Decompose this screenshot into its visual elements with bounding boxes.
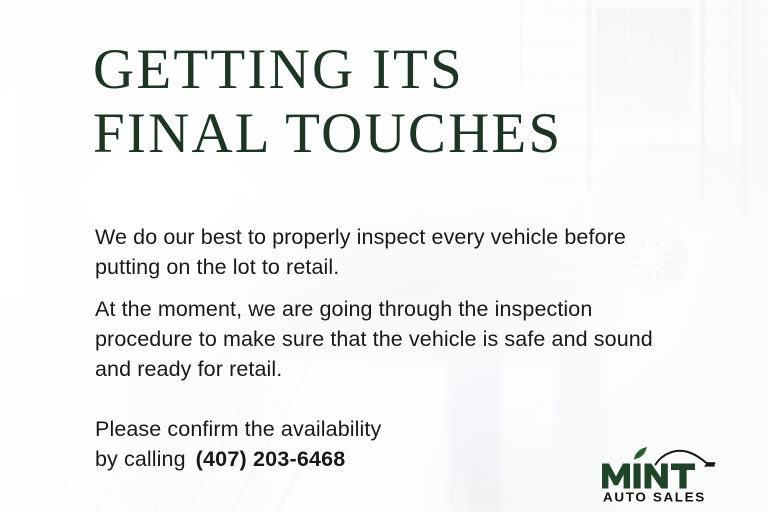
leaf-icon [634, 447, 646, 459]
headline-line-1: GETTING ITS [93, 38, 693, 102]
body-paragraph-procedure: At the moment, we are going through the … [95, 294, 655, 384]
promo-graphic: GETTING ITS FINAL TOUCHES We do our best… [0, 0, 768, 512]
headline: GETTING ITS FINAL TOUCHES [93, 38, 693, 166]
mint-auto-sales-logo[interactable]: AUTO SALES [600, 444, 746, 506]
phone-number[interactable]: (407) 203-6468 [196, 447, 346, 471]
headline-line-2: FINAL TOUCHES [93, 102, 693, 166]
contact-call-text: by calling [95, 447, 186, 471]
contact-lead-text: Please confirm the availability [95, 417, 381, 441]
logo-tagline-text: AUTO SALES [603, 490, 706, 505]
logo-wordmark [602, 464, 695, 489]
body-paragraph-contact: Please confirm the availability by calli… [95, 414, 655, 474]
body-paragraph-inspection: We do our best to properly inspect every… [95, 222, 655, 282]
